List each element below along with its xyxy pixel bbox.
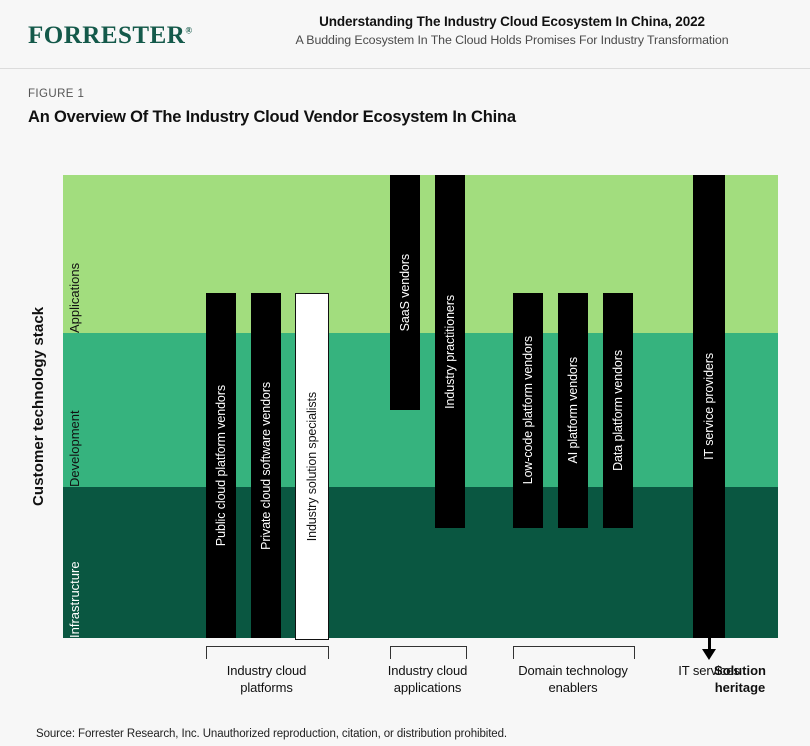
- bar-label: Data platform vendors: [611, 350, 625, 471]
- bar-low-code-platform-vendors[interactable]: Low-code platform vendors: [513, 293, 543, 528]
- x-group-label-industry-cloud: Industry cloudapplications: [348, 662, 508, 696]
- bar-saas-vendors[interactable]: SaaS vendors: [390, 175, 420, 410]
- chart-plot-area: ApplicationsDevelopmentInfrastructurePub…: [63, 175, 778, 638]
- band-label-applications: Applications: [67, 175, 82, 333]
- x-group-label-industry-cloud: Industry cloudplatforms: [187, 662, 347, 696]
- report-title: Understanding The Industry Cloud Ecosyst…: [232, 14, 792, 29]
- y-axis-title: Customer technology stack: [30, 175, 47, 638]
- group-bracket-industry-cloud: [390, 646, 467, 659]
- registered-trademark-icon: ®: [185, 26, 192, 36]
- bar-label: SaaS vendors: [398, 254, 412, 331]
- group-bracket-domain-technology: [513, 646, 635, 659]
- band-applications: Applications: [63, 175, 778, 333]
- bar-data-platform-vendors[interactable]: Data platform vendors: [603, 293, 633, 528]
- band-label-development: Development: [67, 333, 82, 487]
- bar-label: Public cloud platform vendors: [214, 385, 228, 546]
- source-note: Source: Forrester Research, Inc. Unautho…: [36, 728, 507, 740]
- logo-text: FORRESTER: [28, 22, 185, 49]
- bar-label: Industry practitioners: [443, 295, 457, 409]
- it-services-arrow-icon: [702, 649, 716, 660]
- page-header: FORRESTER® Understanding The Industry Cl…: [0, 0, 810, 69]
- band-infrastructure: Infrastructure: [63, 487, 778, 638]
- band-development: Development: [63, 333, 778, 487]
- figure-title: An Overview Of The Industry Cloud Vendor…: [28, 108, 516, 127]
- bar-label: IT service providers: [702, 353, 716, 460]
- group-bracket-industry-cloud: [206, 646, 329, 659]
- bar-public-cloud-platform-vendors[interactable]: Public cloud platform vendors: [206, 293, 236, 638]
- bar-label: Private cloud software vendors: [259, 382, 273, 550]
- report-subtitle: A Budding Ecosystem In The Cloud Holds P…: [232, 33, 792, 47]
- bar-ai-platform-vendors[interactable]: AI platform vendors: [558, 293, 588, 528]
- bar-industry-practitioners[interactable]: Industry practitioners: [435, 175, 465, 528]
- forrester-logo: FORRESTER®: [28, 22, 193, 50]
- figure-number: FIGURE 1: [28, 88, 84, 100]
- bar-industry-solution-specialists[interactable]: Industry solution specialists: [295, 293, 329, 640]
- band-label-infrastructure: Infrastructure: [67, 487, 82, 638]
- bar-label: Low-code platform vendors: [521, 336, 535, 484]
- bar-label: AI platform vendors: [566, 357, 580, 463]
- bar-it-service-providers[interactable]: IT service providers: [693, 175, 725, 638]
- x-axis-title: Solutionheritage: [694, 662, 786, 696]
- bar-label: Industry solution specialists: [305, 392, 319, 541]
- bar-private-cloud-software-vendors[interactable]: Private cloud software vendors: [251, 293, 281, 638]
